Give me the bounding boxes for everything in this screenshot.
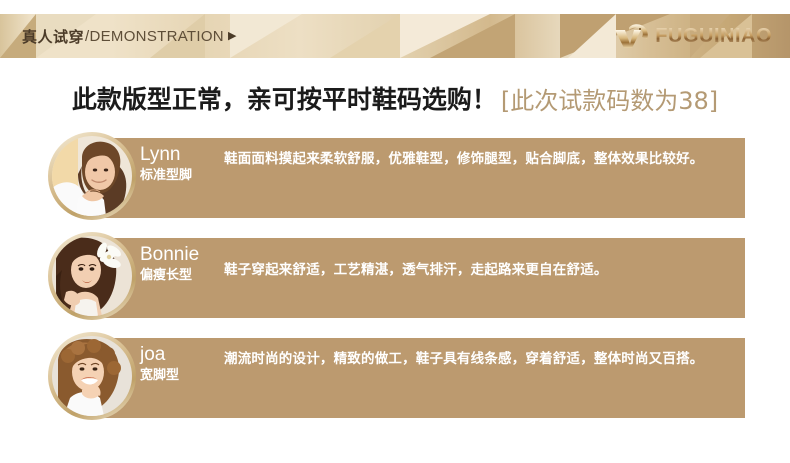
header-facet-decoration xyxy=(330,14,400,58)
avatar-bonnie xyxy=(52,236,132,316)
page-title: 此款版型正常，亲可按平时鞋码选购！ [此次试款码数为38] xyxy=(0,72,790,124)
avatar xyxy=(48,332,136,420)
page-header: 真人试穿 /DEMONSTRATION ▶ FUGUINIAO xyxy=(0,0,790,72)
page-title-main: 此款版型正常，亲可按平时鞋码选购！ xyxy=(72,80,497,116)
reviewer-name: joa xyxy=(140,344,220,366)
reviews-list: Lynn 标准型脚 鞋面面料摸起来柔软舒服，优雅鞋型，修饰腿型，贴合脚底，整体效… xyxy=(0,124,790,424)
reviewer-foot-type: 标准型脚 xyxy=(140,167,220,185)
section-heading-en: /DEMONSTRATION xyxy=(85,28,224,45)
section-heading: 真人试穿 /DEMONSTRATION ▶ xyxy=(22,14,236,58)
avatar xyxy=(48,232,136,320)
reviewer-foot-type: 宽脚型 xyxy=(140,367,220,385)
header-facet-decoration xyxy=(568,14,616,58)
page-title-note: [此次试款码数为38] xyxy=(501,81,718,116)
review-comment: 潮流时尚的设计，精致的做工，鞋子具有线条感，穿着舒适，整体时尚又百搭。 xyxy=(224,346,724,373)
review-row: Bonnie 偏瘦长型 鞋子穿起来舒适，工艺精湛，透气排汗，走起路来更自在舒适。 xyxy=(0,224,790,324)
review-row: joa 宽脚型 潮流时尚的设计，精致的做工，鞋子具有线条感，穿着舒适，整体时尚又… xyxy=(0,324,790,424)
review-row: Lynn 标准型脚 鞋面面料摸起来柔软舒服，优雅鞋型，修饰腿型，贴合脚底，整体效… xyxy=(0,124,790,224)
header-facet-decoration xyxy=(230,14,302,58)
avatar-joa xyxy=(52,336,132,416)
section-heading-cn: 真人试穿 xyxy=(22,26,84,47)
header-facet-decoration xyxy=(430,14,515,58)
bird-logo-icon xyxy=(614,23,650,49)
reviewer-foot-type: 偏瘦长型 xyxy=(140,267,220,285)
brand-logo: FUGUINIAO xyxy=(614,14,772,58)
avatar xyxy=(48,132,136,220)
reviewer-info: joa 宽脚型 xyxy=(140,344,220,385)
reviewer-name: Lynn xyxy=(140,144,220,166)
review-comment: 鞋面面料摸起来柔软舒服，优雅鞋型，修饰腿型，贴合脚底，整体效果比较好。 xyxy=(224,146,724,173)
triangle-right-icon: ▶ xyxy=(228,31,236,42)
reviewer-info: Bonnie 偏瘦长型 xyxy=(140,244,220,285)
brand-name: FUGUINIAO xyxy=(655,25,772,48)
reviewer-info: Lynn 标准型脚 xyxy=(140,144,220,185)
review-comment: 鞋子穿起来舒适，工艺精湛，透气排汗，走起路来更自在舒适。 xyxy=(224,257,724,284)
reviewer-name: Bonnie xyxy=(140,244,220,266)
avatar-lynn xyxy=(52,136,132,216)
